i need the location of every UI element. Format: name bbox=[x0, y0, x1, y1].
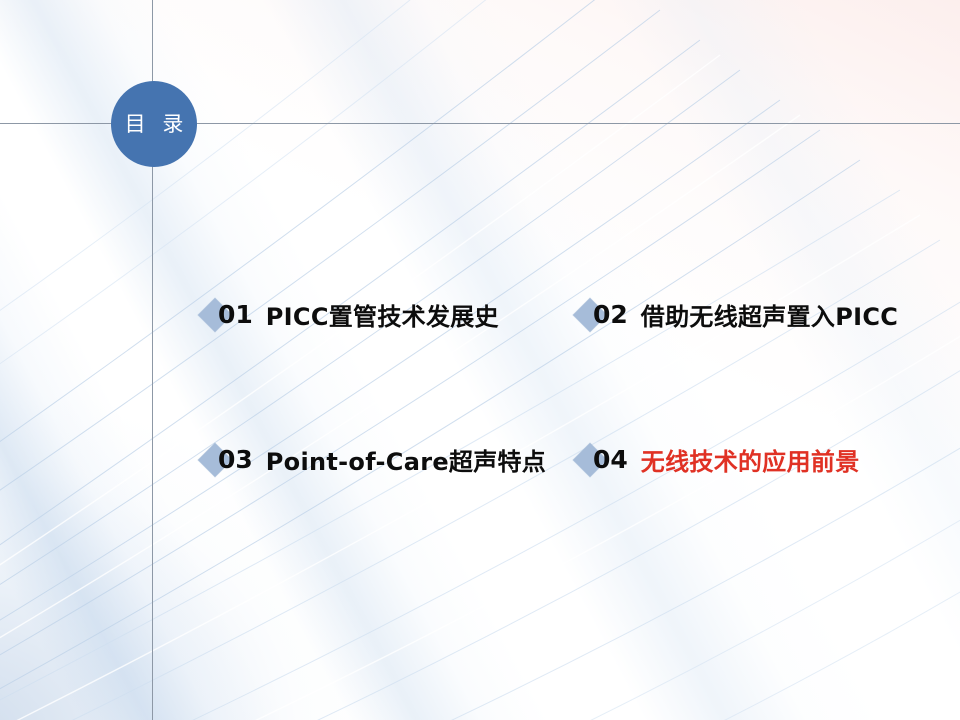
agenda-item-label: PICC置管技术发展史 bbox=[266, 297, 499, 332]
agenda-item-number: 02 bbox=[593, 300, 628, 329]
agenda-item-number: 04 bbox=[593, 445, 628, 474]
agenda-item-04[interactable]: 04 无线技术的应用前景 bbox=[578, 442, 860, 477]
agenda-item-02[interactable]: 02 借助无线超声置入PICC bbox=[578, 297, 898, 332]
agenda-item-03[interactable]: 03 Point-of-Care超声特点 bbox=[203, 442, 546, 477]
agenda-item-label: 无线技术的应用前景 bbox=[641, 442, 860, 477]
agenda-item-01[interactable]: 01 PICC置管技术发展史 bbox=[203, 297, 499, 332]
slide-canvas: 目 录 01 PICC置管技术发展史 02 借助无线超声置入PICC 03 Po… bbox=[0, 0, 960, 720]
agenda-item-label: Point-of-Care超声特点 bbox=[266, 442, 546, 477]
agenda-item-number: 01 bbox=[218, 300, 253, 329]
agenda-list: 01 PICC置管技术发展史 02 借助无线超声置入PICC 03 Point-… bbox=[0, 0, 960, 720]
agenda-item-number: 03 bbox=[218, 445, 253, 474]
agenda-item-label: 借助无线超声置入PICC bbox=[641, 297, 898, 332]
